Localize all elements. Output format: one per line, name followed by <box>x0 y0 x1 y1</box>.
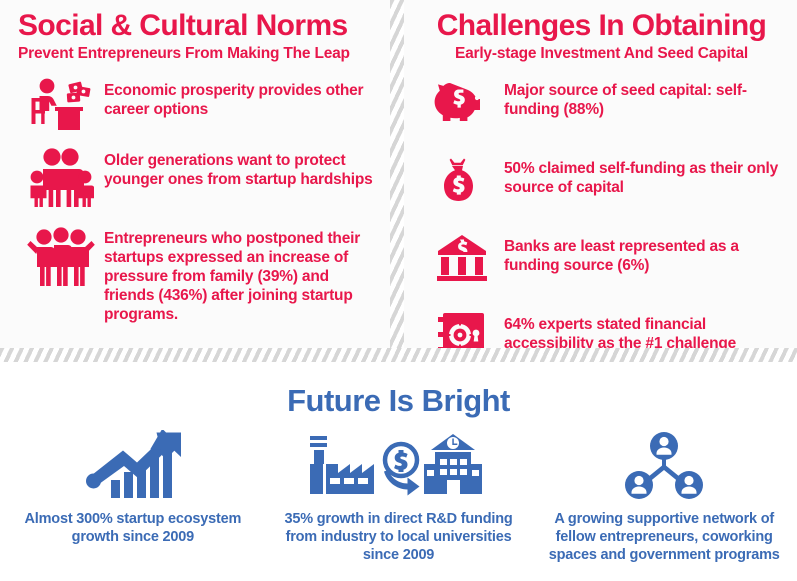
bank-building-icon <box>420 233 504 283</box>
horizontal-divider <box>0 348 797 362</box>
money-bag-icon <box>420 155 504 209</box>
list-item-text: Entrepreneurs who postponed their startu… <box>104 225 378 324</box>
left-panel-items: Economic prosperity provides other caree… <box>18 77 378 325</box>
list-item-text: 50% claimed self-funding as their only s… <box>504 155 783 197</box>
right-panel-title: Challenges In Obtaining <box>420 0 783 42</box>
list-item: Major source of seed capital: self-fundi… <box>420 77 783 153</box>
list-item-text: Banks are least represented as a funding… <box>504 233 783 275</box>
list-item-text: 64% experts stated financial accessibili… <box>504 311 783 353</box>
list-item: Entrepreneurs who postponed their startu… <box>18 225 378 325</box>
person-at-desk-with-money-icon <box>18 77 104 133</box>
left-panel-subtitle: Prevent Entrepreneurs From Making The Le… <box>18 42 378 63</box>
list-item: Banks are least represented as a funding… <box>420 233 783 309</box>
right-panel-items: Major source of seed capital: self-fundi… <box>420 77 783 387</box>
future-column-text: A growing supportive network of fellow e… <box>539 510 789 564</box>
list-item: Economic prosperity provides other caree… <box>18 77 378 145</box>
left-panel-title: Social & Cultural Norms <box>18 0 378 42</box>
panel-challenges-obtaining: Challenges In Obtaining Early-stage Inve… <box>404 0 797 348</box>
vertical-divider <box>390 0 404 348</box>
piggy-bank-icon <box>420 77 504 127</box>
list-item-text: Economic prosperity provides other caree… <box>104 77 378 119</box>
factory-to-university-funding-icon <box>304 428 494 504</box>
infographic-canvas: Social & Cultural Norms Prevent Entrepre… <box>0 0 797 581</box>
future-columns: Almost 300% startup ecosystem growth sin… <box>0 428 797 564</box>
future-column: A growing supportive network of fellow e… <box>531 428 797 564</box>
future-section-title: Future Is Bright <box>0 362 797 418</box>
list-item-text: Major source of seed capital: self-fundi… <box>504 77 783 119</box>
section-future-is-bright: Future Is Bright <box>0 362 797 581</box>
future-column-text: Almost 300% startup ecosystem growth sin… <box>8 510 258 546</box>
people-network-icon <box>621 428 707 504</box>
three-people-raised-arms-icon <box>18 225 104 287</box>
right-panel-subtitle: Early-stage Investment And Seed Capital <box>420 42 783 63</box>
future-column-text: 35% growth in direct R&D funding from in… <box>274 510 524 564</box>
list-item: 50% claimed self-funding as their only s… <box>420 155 783 231</box>
growth-chart-arrow-icon <box>81 428 185 504</box>
future-column: 35% growth in direct R&D funding from in… <box>266 428 532 564</box>
panel-social-cultural-norms: Social & Cultural Norms Prevent Entrepre… <box>0 0 390 348</box>
list-item: Older generations want to protect younge… <box>18 147 378 223</box>
list-item-text: Older generations want to protect younge… <box>104 147 378 189</box>
family-group-icon <box>18 147 104 209</box>
future-column: Almost 300% startup ecosystem growth sin… <box>0 428 266 564</box>
